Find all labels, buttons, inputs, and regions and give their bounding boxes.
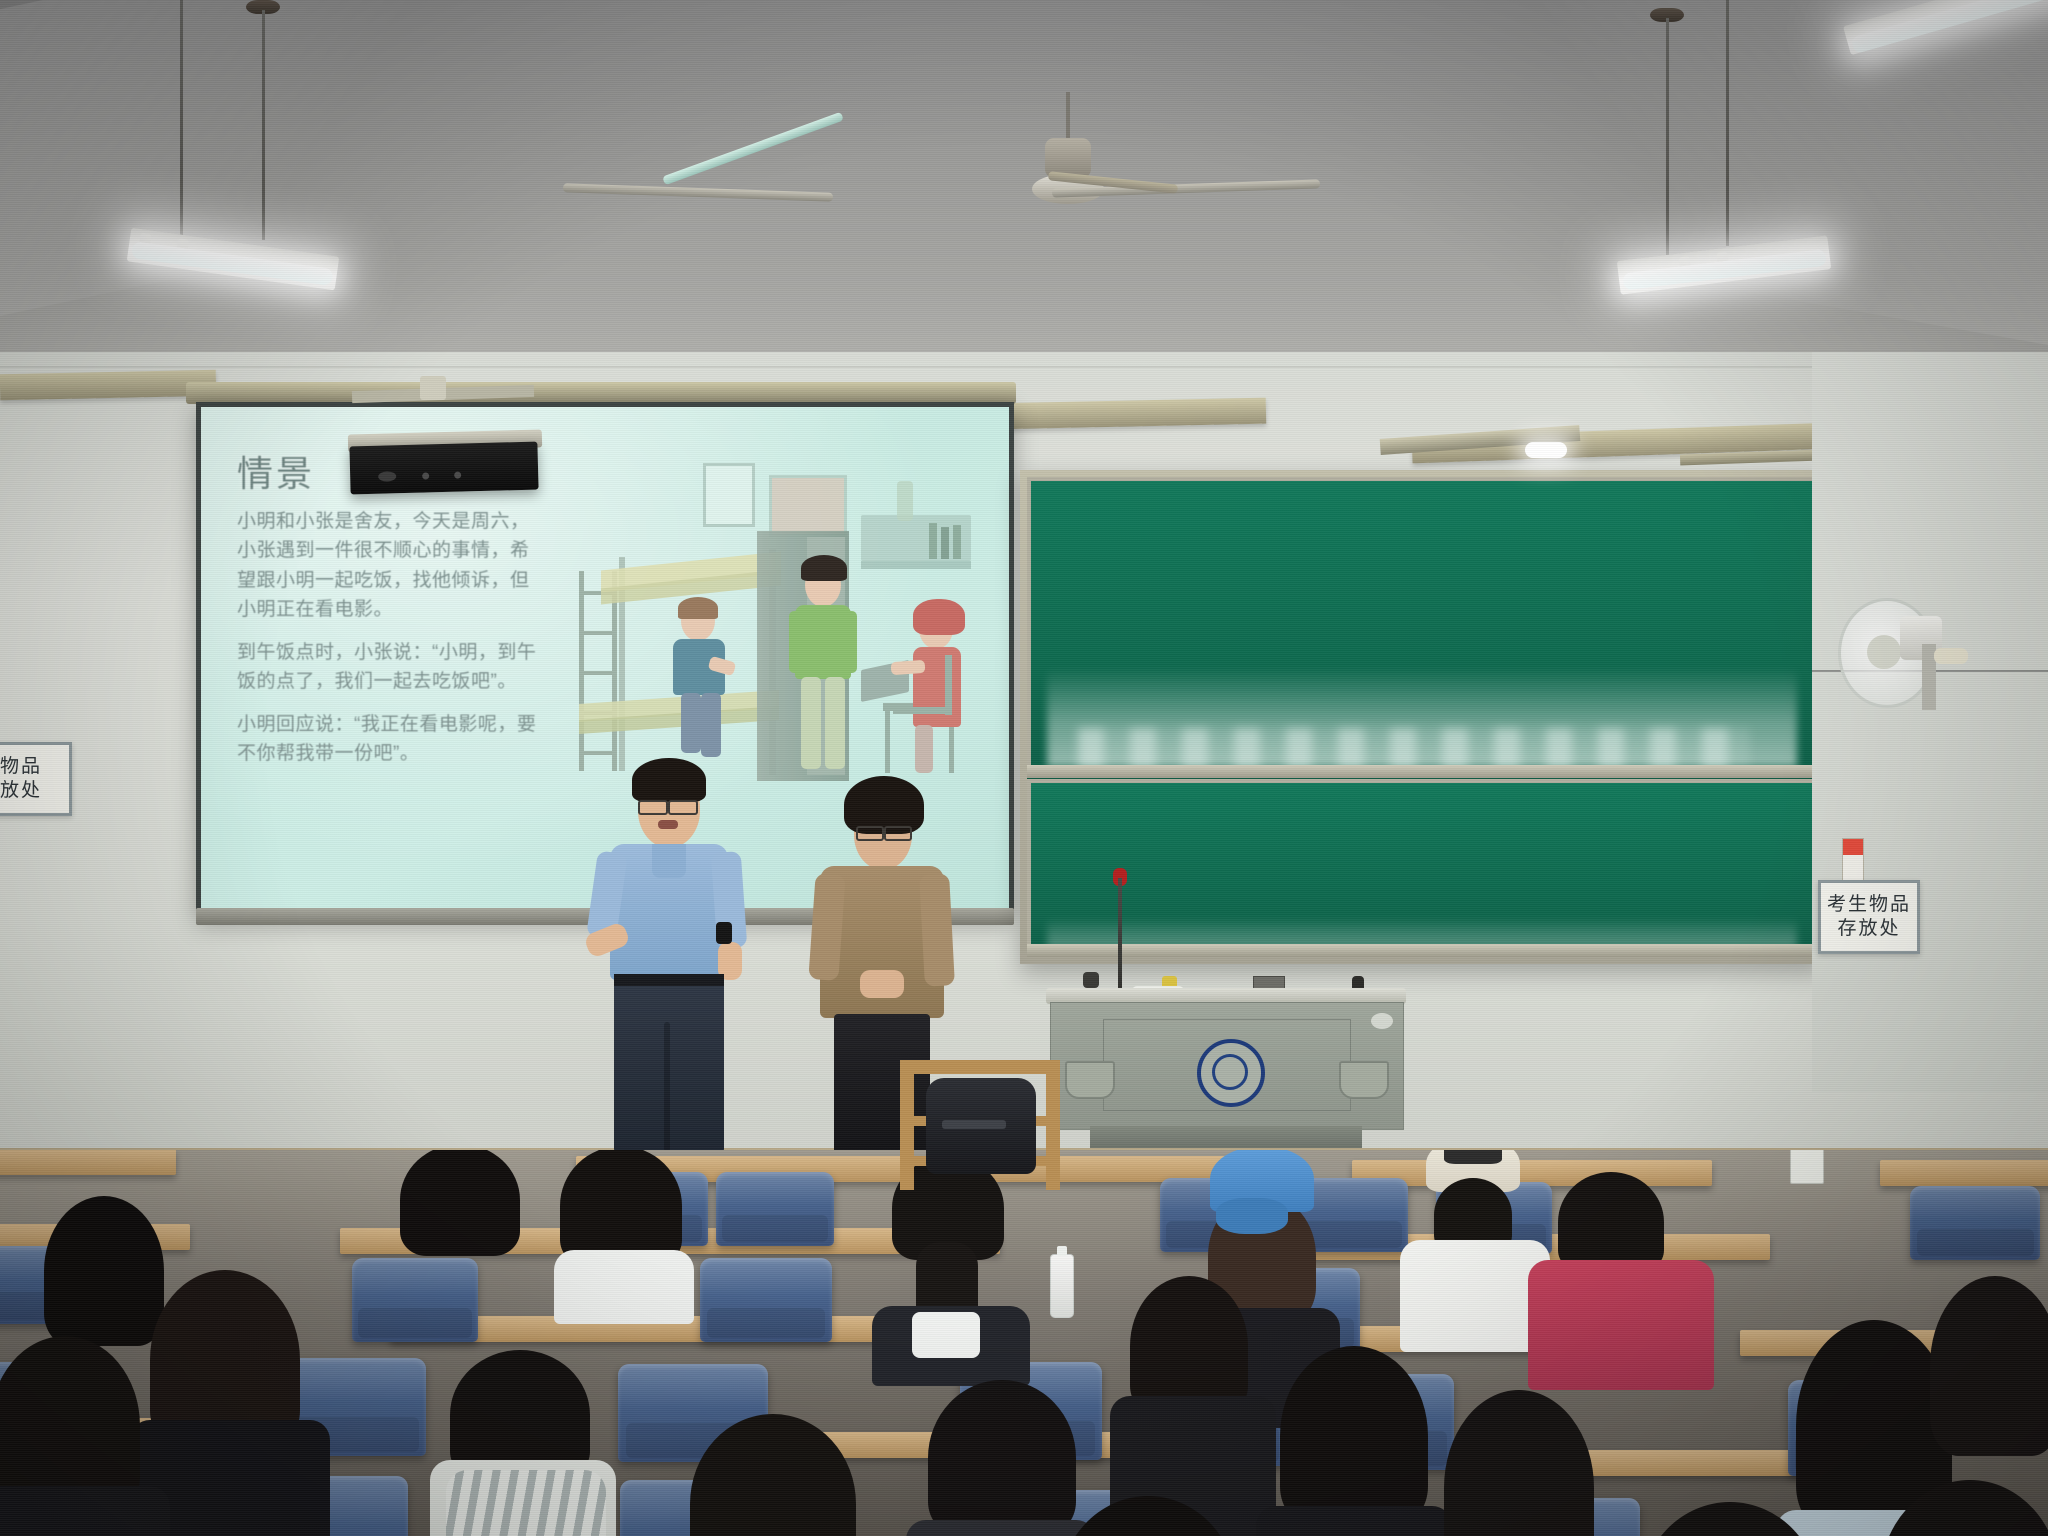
student-hair <box>1058 1496 1238 1536</box>
student <box>1120 1276 1260 1466</box>
wall-mounted-fan <box>1838 592 1978 712</box>
glasses-icon <box>668 800 698 815</box>
book-icon <box>941 527 949 559</box>
student-striped-shirt <box>446 1470 606 1536</box>
light-chain <box>180 0 183 252</box>
wall-shelf <box>861 561 971 569</box>
student <box>400 1150 520 1264</box>
student-collar <box>912 1312 980 1358</box>
student-body <box>554 1250 694 1324</box>
student-body <box>1256 1506 1452 1536</box>
wrist-watch <box>716 922 732 944</box>
blackboard-lamp <box>1525 442 1567 458</box>
glasses-icon <box>884 826 912 841</box>
right-wall <box>1812 352 2048 1092</box>
chalk-dust <box>1078 728 1751 769</box>
fan-bracket <box>1934 648 1968 664</box>
presenter-blue-polo <box>586 752 756 1152</box>
university-emblem <box>1197 1039 1265 1107</box>
potted-plant-icon <box>897 481 913 521</box>
chalk-tray <box>1027 765 1817 778</box>
projector-lens-icon <box>378 471 396 481</box>
glasses-icon <box>638 800 668 815</box>
wall-outlet[interactable] <box>1790 1150 1824 1184</box>
projector <box>349 442 538 495</box>
student <box>1930 1276 2048 1476</box>
student-hair <box>1444 1390 1594 1536</box>
student-hair <box>1130 1276 1248 1416</box>
lectern-front-panel <box>1050 1002 1404 1130</box>
lectern-trim-right <box>1339 1061 1389 1099</box>
presenter-mouth <box>658 820 678 829</box>
person-hair <box>801 555 847 581</box>
slide-paragraph-1: 小明和小张是舍友，今天是周六，小张遇到一件很不顺心的事情，希望跟小明一起吃饭，找… <box>237 507 537 625</box>
projector-mount-plate <box>420 376 446 400</box>
person-arm <box>843 611 857 673</box>
student-hair <box>560 1150 682 1266</box>
presenter-collar <box>652 844 686 878</box>
projection-screen-roller <box>186 382 1016 404</box>
student-hair <box>44 1196 164 1346</box>
slide-paragraph-3: 小明回应说：“我正在看电影呢，要不你帮我带一份吧”。 <box>237 710 537 769</box>
lectern-trim-left <box>1065 1061 1115 1099</box>
ceiling-fan <box>818 92 1318 222</box>
student-with-bucket-hat <box>1408 1150 1538 1316</box>
blackboard-inner <box>1027 477 1817 957</box>
podium-knob[interactable] <box>1083 972 1099 988</box>
wall-picture-frame-icon <box>769 475 847 537</box>
student <box>0 1336 150 1536</box>
microphone-stand <box>1118 878 1122 998</box>
light-chain <box>1666 18 1669 260</box>
person-leg <box>701 693 721 757</box>
glasses-icon <box>856 826 884 841</box>
student <box>44 1196 164 1346</box>
student-red-shirt <box>1534 1172 1694 1382</box>
person-leg <box>801 677 821 769</box>
blackboard-panel-lower <box>1027 779 1817 957</box>
presenter-pants-seam <box>664 1022 670 1152</box>
student-hair <box>400 1150 520 1256</box>
person-leg <box>825 677 845 769</box>
person-torso <box>913 647 961 727</box>
lecture-hall-scene: 情景 小明和小张是舍友，今天是周六，小张遇到一件很不顺心的事情，希望跟小明一起吃… <box>0 0 2048 1536</box>
fan-rod <box>1066 92 1070 144</box>
blackboard-panel-upper <box>1027 477 1817 775</box>
ceiling-highlight-right <box>1463 0 2048 353</box>
lecture-seat[interactable] <box>716 1172 834 1246</box>
blackboard <box>1020 470 1824 964</box>
book-icon <box>929 523 937 559</box>
chair-seat <box>893 707 949 714</box>
lectern <box>1046 988 1406 1148</box>
person-hair <box>913 599 965 635</box>
student-hair <box>1640 1502 1820 1536</box>
person-arm <box>891 660 926 675</box>
storage-sign-left-line-2: 放处 <box>0 779 42 803</box>
storage-sign-left: 物品 放处 <box>0 742 72 816</box>
student-hair <box>690 1414 856 1536</box>
chalk-tray <box>1027 944 1817 957</box>
student <box>1262 1346 1442 1536</box>
student <box>150 1270 300 1470</box>
chair-back <box>945 655 952 715</box>
presenter-hair <box>632 758 706 802</box>
lectern-sticker <box>1371 1013 1393 1029</box>
illustration-person-at-desk <box>897 599 969 779</box>
presenter-hands-clasped <box>860 970 904 998</box>
student <box>1620 1502 1840 1536</box>
student-hair <box>1280 1346 1428 1526</box>
slide-body: 小明和小张是舍友，今天是周六，小张遇到一件很不顺心的事情，希望跟小明一起吃饭，找… <box>237 507 537 782</box>
student <box>1430 1390 1610 1536</box>
student <box>1880 1480 2048 1536</box>
projector-indicator <box>422 472 429 479</box>
lectern-base <box>1090 1126 1362 1148</box>
student <box>660 1414 880 1536</box>
lecture-seat[interactable] <box>352 1258 478 1342</box>
lecture-seat[interactable] <box>1910 1186 2040 1260</box>
slide-paragraph-2: 到午饭点时，小张说：“小明，到午饭的点了，我们一起去吃饭吧”。 <box>237 638 537 697</box>
book-icon <box>953 525 961 559</box>
presenter-arm-right <box>919 873 955 986</box>
storage-sign-line-1: 考生物品 <box>1827 893 1911 917</box>
illustration-person-standing <box>789 555 865 777</box>
emergency-switch-box[interactable] <box>1842 838 1864 882</box>
person-hair <box>678 597 718 619</box>
desk-row <box>1880 1160 2048 1186</box>
desk-row <box>0 1150 176 1175</box>
student <box>430 1350 606 1536</box>
storage-sign-left-line-1: 物品 <box>0 755 42 779</box>
student-body <box>0 1486 170 1536</box>
student <box>560 1150 682 1272</box>
storage-sign-line-2: 存放处 <box>1837 917 1900 941</box>
student-body <box>1528 1260 1714 1390</box>
projector-indicator <box>454 472 461 479</box>
wall-seam <box>0 366 2048 368</box>
backpack[interactable] <box>926 1078 1036 1174</box>
presenter-belt <box>614 974 724 986</box>
water-bottle[interactable] <box>1050 1254 1074 1318</box>
student <box>1046 1496 1256 1536</box>
student-hair <box>1880 1480 2048 1536</box>
illustration-person-seated <box>665 601 741 761</box>
wall-picture-frame-icon <box>703 463 755 527</box>
light-chain <box>1726 0 1729 246</box>
lecture-seat[interactable] <box>700 1258 832 1342</box>
person-arm <box>789 611 803 673</box>
cap-brim <box>1216 1198 1288 1234</box>
student-hair <box>1558 1172 1664 1272</box>
presenter-hair <box>844 776 924 834</box>
audience-area <box>0 1150 2048 1536</box>
person-leg <box>915 725 933 773</box>
chair-back-rail <box>900 1060 1060 1074</box>
slide-title: 情景 <box>237 445 315 497</box>
person-leg <box>681 693 701 753</box>
light-chain <box>262 10 265 240</box>
student-hair <box>1930 1276 2048 1456</box>
bucket-hat-band <box>1444 1150 1502 1164</box>
wall-ledge <box>0 370 216 401</box>
storage-sign-right: 考生物品 存放处 <box>1818 880 1920 954</box>
